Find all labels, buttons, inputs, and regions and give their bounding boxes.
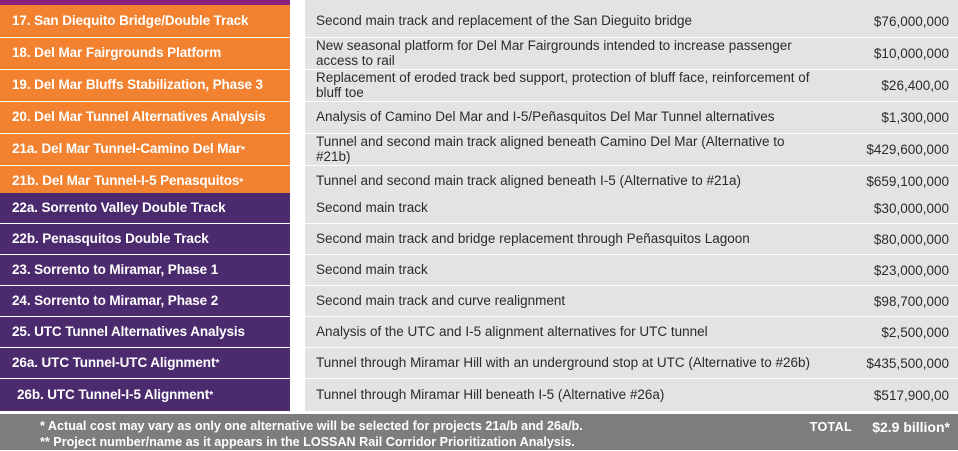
table-row: 23. Sorrento to Miramar, Phase 1Second m… — [0, 255, 958, 285]
project-cost-cell: $1,300,000 — [827, 102, 958, 133]
project-name-cell: 24. Sorrento to Miramar, Phase 2 — [0, 286, 290, 316]
project-name-cell: 22b. Penasquitos Double Track — [0, 224, 290, 254]
project-name-label: 20. Del Mar Tunnel Alternatives Analysis — [12, 110, 266, 124]
project-name-label: 18. Del Mar Fairgrounds Platform — [12, 46, 221, 60]
project-cost-table: 17. San Diequito Bridge/Double TrackSeco… — [0, 0, 958, 450]
project-name-label: 22b. Penasquitos Double Track — [12, 232, 209, 246]
project-cost-cell: $80,000,000 — [827, 224, 958, 254]
project-cost-cell: $517,900,00 — [827, 379, 958, 411]
project-name-cell: 26a. UTC Tunnel-UTC Alignment* — [0, 348, 290, 378]
project-name-label: 17. San Diequito Bridge/Double Track — [12, 14, 248, 28]
project-cost-cell: $429,600,000 — [827, 134, 958, 165]
project-cost-cell: $26,400,00 — [827, 70, 958, 101]
project-name-cell: 18. Del Mar Fairgrounds Platform — [0, 38, 290, 69]
footnote-double-asterisk: ** Project number/name as it appears in … — [40, 434, 800, 450]
project-name-cell: 22a. Sorrento Valley Double Track — [0, 193, 290, 223]
project-description-cell: New seasonal platform for Del Mar Fairgr… — [305, 38, 827, 69]
project-name-label: 25. UTC Tunnel Alternatives Analysis — [12, 325, 245, 339]
table-row: 18. Del Mar Fairgrounds PlatformNew seas… — [0, 38, 958, 69]
project-name-cell: 21a. Del Mar Tunnel-Camino Del Mar* — [0, 134, 290, 165]
total-label: TOTAL — [810, 420, 852, 434]
table-row: 20. Del Mar Tunnel Alternatives Analysis… — [0, 102, 958, 133]
project-description-cell: Tunnel through Miramar Hill with an unde… — [305, 348, 827, 378]
project-description-cell: Tunnel through Miramar Hill beneath I-5 … — [305, 379, 827, 411]
table-row: 22a. Sorrento Valley Double TrackSecond … — [0, 193, 958, 223]
project-description-cell: Second main track — [305, 255, 827, 285]
project-name-label: 26a. UTC Tunnel-UTC Alignment — [12, 356, 215, 370]
project-name-cell: 25. UTC Tunnel Alternatives Analysis — [0, 317, 290, 347]
project-description-cell: Tunnel and second main track aligned ben… — [305, 134, 827, 165]
table-row: 26b. UTC Tunnel-I-5 Alignment*Tunnel thr… — [0, 379, 958, 411]
project-cost-cell: $30,000,000 — [827, 193, 958, 223]
project-cost-cell: $435,500,000 — [827, 348, 958, 378]
table-row: 19. Del Mar Bluffs Stabilization, Phase … — [0, 70, 958, 101]
project-description-cell: Analysis of Camino Del Mar and I-5/Peñas… — [305, 102, 827, 133]
footnote-single-asterisk: * Actual cost may vary as only one alter… — [40, 418, 800, 434]
project-name-cell: 23. Sorrento to Miramar, Phase 1 — [0, 255, 290, 285]
project-name-cell: 17. San Diequito Bridge/Double Track — [0, 5, 290, 37]
footer-notes: * Actual cost may vary as only one alter… — [40, 418, 800, 451]
project-name-cell: 19. Del Mar Bluffs Stabilization, Phase … — [0, 70, 290, 101]
project-name-label: 26b. UTC Tunnel-I-5 Alignment — [17, 388, 209, 402]
project-name-label: 21b. Del Mar Tunnel-I-5 Penasquitos — [12, 174, 239, 188]
project-cost-cell: $76,000,000 — [827, 5, 958, 37]
table-row: 26a. UTC Tunnel-UTC Alignment*Tunnel thr… — [0, 348, 958, 378]
total-value: $2.9 billion* — [872, 419, 950, 435]
project-description-cell: Second main track and curve realignment — [305, 286, 827, 316]
project-name-label: 19. Del Mar Bluffs Stabilization, Phase … — [12, 78, 263, 92]
project-name-label: 22a. Sorrento Valley Double Track — [12, 201, 226, 215]
project-description-cell: Second main track and bridge replacement… — [305, 224, 827, 254]
project-description-cell: Second main track — [305, 193, 827, 223]
project-cost-cell: $23,000,000 — [827, 255, 958, 285]
table-row: 25. UTC Tunnel Alternatives AnalysisAnal… — [0, 317, 958, 347]
table-row: 22b. Penasquitos Double TrackSecond main… — [0, 224, 958, 254]
table-row: 21a. Del Mar Tunnel-Camino Del Mar*Tunne… — [0, 134, 958, 165]
project-name-cell: 26b. UTC Tunnel-I-5 Alignment* — [0, 379, 290, 411]
table-row: 24. Sorrento to Miramar, Phase 2Second m… — [0, 286, 958, 316]
table-row: 17. San Diequito Bridge/Double TrackSeco… — [0, 5, 958, 37]
project-cost-cell: $2,500,000 — [827, 317, 958, 347]
project-name-cell: 20. Del Mar Tunnel Alternatives Analysis — [0, 102, 290, 133]
project-name-label: 24. Sorrento to Miramar, Phase 2 — [12, 294, 218, 308]
project-description-cell: Second main track and replacement of the… — [305, 5, 827, 37]
project-description-cell: Replacement of eroded track bed support,… — [305, 70, 827, 101]
project-name-label: 23. Sorrento to Miramar, Phase 1 — [12, 263, 218, 277]
table-footer: * Actual cost may vary as only one alter… — [0, 414, 958, 450]
project-description-cell: Analysis of the UTC and I-5 alignment al… — [305, 317, 827, 347]
project-cost-cell: $98,700,000 — [827, 286, 958, 316]
project-cost-cell: $10,000,000 — [827, 38, 958, 69]
project-name-label: 21a. Del Mar Tunnel-Camino Del Mar — [12, 142, 241, 156]
